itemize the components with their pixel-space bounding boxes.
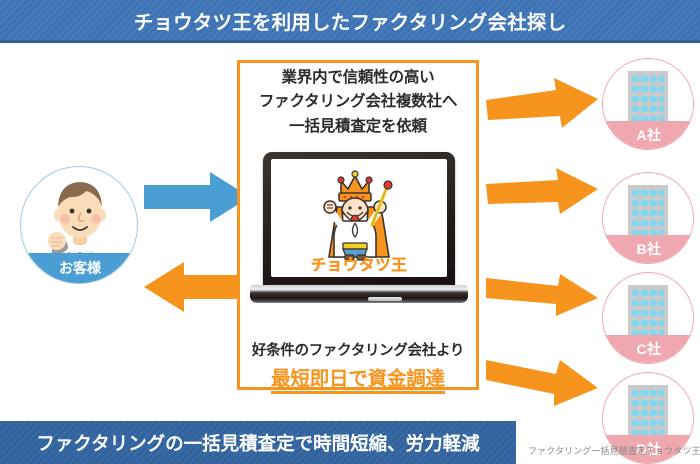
company-label: C社: [603, 335, 694, 363]
company-circle-c: C社: [602, 272, 694, 364]
laptop-base: [250, 285, 468, 303]
footer-bar: ファクタリングの一括見積査定で時間短縮、労力軽減: [0, 421, 516, 464]
top-text-line-3: 一括見積査定を依頼: [237, 115, 479, 139]
header-bar: チョウタツ王を利用したファクタリング会社探し: [0, 0, 700, 40]
king-mascot: チョウタツ王: [271, 159, 447, 277]
arrow-customer-to-laptop: [144, 172, 250, 222]
laptop-lid: チョウタツ王: [263, 152, 455, 289]
top-text-line-1: 業界内で信頼性の高い: [237, 66, 479, 90]
top-text-line-2: ファクタリング会社複数社へ: [237, 90, 479, 114]
customer-label: お客様: [21, 253, 138, 283]
center-box-bottom-text: 好条件のファクタリング会社より: [237, 339, 479, 360]
mascot-name-label: チョウタツ王: [271, 253, 447, 275]
highlight-text: 最短即日で資金調達: [271, 368, 445, 394]
company-label: A社: [603, 121, 694, 149]
company-circle-b: B社: [602, 172, 694, 264]
laptop-screen: チョウタツ王: [271, 159, 447, 277]
laptop-illustration: チョウタツ王: [250, 152, 468, 322]
arrow-laptop-to-company: [486, 78, 598, 128]
center-box-top-text: 業界内で信頼性の高い ファクタリング会社複数社へ 一括見積査定を依頼: [237, 66, 479, 139]
laptop-trackpad-notch: [368, 297, 402, 301]
arrow-laptop-to-customer: [144, 262, 250, 312]
arrow-laptop-to-company: [486, 268, 598, 316]
footer-title: ファクタリングの一括見積査定で時間短縮、労力軽減: [36, 430, 479, 456]
center-box-highlight-text: 最短即日で資金調達: [237, 362, 479, 391]
company-circle-a: A社: [602, 58, 694, 150]
footer-credit: ファクタリング一括見積査定チョウタツ王: [528, 444, 700, 457]
page-title: チョウタツ王を利用したファクタリング会社探し: [134, 6, 567, 35]
infographic-canvas: チョウタツ王を利用したファクタリング会社探し 業界内で信頼性の高い ファクタリン…: [0, 0, 700, 464]
arrow-laptop-to-company: [486, 352, 598, 406]
company-label: B社: [603, 235, 694, 263]
customer-avatar: お客様: [20, 166, 138, 284]
header-divider: [0, 40, 700, 43]
arrow-laptop-to-company: [486, 168, 598, 214]
